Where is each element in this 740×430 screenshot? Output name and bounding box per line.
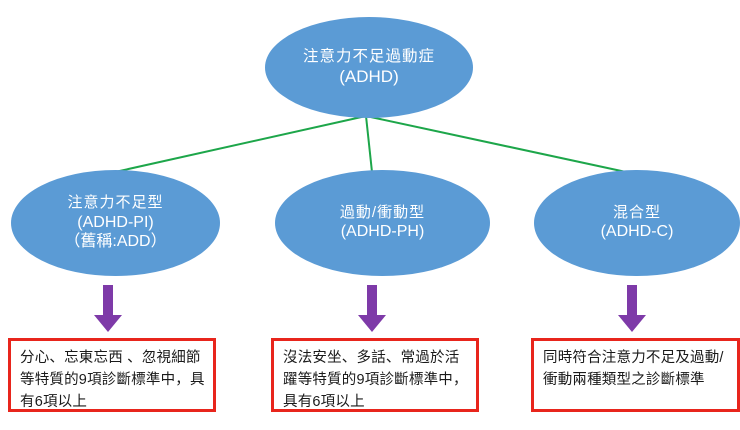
node-adhd-ph-label-cn: 過動/衝動型	[340, 204, 425, 222]
node-adhd-ph: 過動/衝動型 (ADHD-PH)	[275, 170, 490, 276]
criteria-box-c: 同時符合注意力不足及過動/衝動兩種類型之診斷標準	[531, 338, 740, 412]
connector-root-to-ph	[366, 116, 372, 172]
diagram-canvas: 注意力不足過動症 (ADHD) 注意力不足型 (ADHD-PI) （舊稱:ADD…	[0, 0, 740, 430]
node-adhd-pi-label-en: (ADHD-PI)	[77, 213, 153, 233]
connector-root-to-pi	[115, 116, 366, 172]
node-adhd-c-label-en: (ADHD-C)	[601, 222, 674, 242]
node-adhd-c-label-cn: 混合型	[613, 204, 661, 222]
down-arrow-icon-pi	[91, 285, 125, 333]
node-adhd-root: 注意力不足過動症 (ADHD)	[265, 17, 473, 118]
node-adhd-root-label-cn: 注意力不足過動症	[303, 48, 435, 67]
down-arrow-icon-c	[615, 285, 649, 333]
criteria-box-ph: 沒法安坐、多話、常過於活躍等特質的9項診斷標準中，具有6項以上	[271, 338, 479, 412]
criteria-box-pi: 分心、忘東忘西 、忽視細節等特質的9項診斷標準中，具有6項以上	[8, 338, 216, 412]
node-adhd-c: 混合型 (ADHD-C)	[534, 170, 740, 276]
node-adhd-pi-label-alt: （舊稱:ADD）	[64, 232, 166, 252]
node-adhd-pi-label-cn: 注意力不足型	[67, 194, 163, 212]
down-arrow-icon-ph	[355, 285, 389, 333]
node-adhd-root-label-en: (ADHD)	[339, 67, 399, 88]
node-adhd-ph-label-en: (ADHD-PH)	[341, 222, 425, 242]
node-adhd-pi: 注意力不足型 (ADHD-PI) （舊稱:ADD）	[11, 170, 220, 276]
connector-root-to-c	[366, 116, 626, 172]
